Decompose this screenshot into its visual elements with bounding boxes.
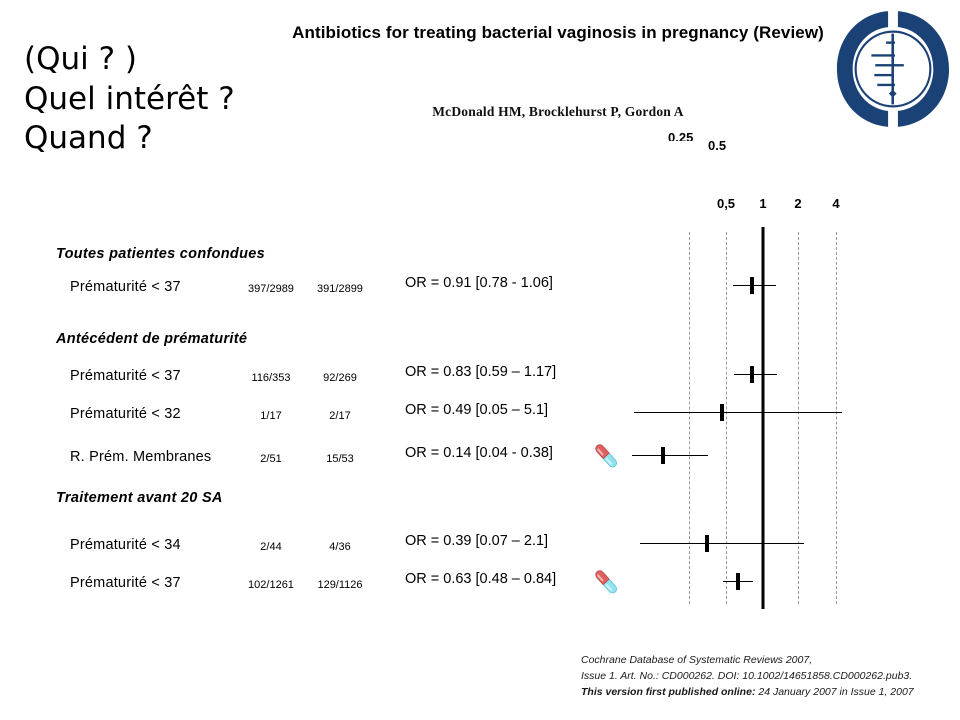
gridline-dashed-3 [798,232,799,604]
confidence-interval-line [640,543,804,544]
confidence-interval-line [733,285,776,286]
study-row-label: Prématurité < 34 [70,537,181,553]
slide-question-block: (Qui ? ) Quel intérêt ? Quand ? [24,40,404,159]
group-heading: Traitement avant 20 SA [56,490,223,506]
gridline-dashed-1 [726,232,727,604]
study-row-n-treatment: 102/1261 [238,579,304,591]
citation-line-3-value: 24 January 2007 in Issue 1, 2007 [755,686,913,698]
citation-line-1: Cochrane Database of Systematic Reviews … [581,653,953,669]
study-row-label: Prématurité < 32 [70,406,181,422]
axis-tick-label-3: 2 [794,196,801,211]
axis-tick-label-1: 0,5 [717,196,735,211]
forest-plot: 0,5124 [600,196,960,616]
study-row-label: R. Prém. Membranes [70,449,211,465]
citation-line-3-label: This version first published online: [581,686,755,698]
study-row-n-treatment: 116/353 [238,372,304,384]
study-row-label: Prématurité < 37 [70,279,181,295]
group-heading: Toutes patientes confondues [56,246,265,262]
effect-estimate-marker [750,366,754,383]
study-row-odds-ratio: OR = 0.49 [0.05 – 5.1] [405,402,548,418]
review-title: Antibiotics for treating bacterial vagin… [268,22,848,44]
study-row-odds-ratio: OR = 0.14 [0.04 - 0.38] [405,445,553,461]
study-row-n-control: 15/53 [305,453,375,465]
group-heading: Antécédent de prématurité [56,331,247,347]
confidence-interval-line [632,455,708,456]
axis-tick-label-4: 4 [832,196,839,211]
study-row-n-treatment: 2/44 [238,541,304,553]
confidence-interval-line [634,412,842,413]
citation-line-3: This version first published online: 24 … [581,685,953,701]
study-row-n-treatment: 2/51 [238,453,304,465]
study-row-label: Prématurité < 37 [70,368,181,384]
effect-estimate-marker [750,277,754,294]
slide-question-line-1: (Qui ? ) [24,40,404,80]
study-row-n-control: 2/17 [305,410,375,422]
gridline-dashed-4 [836,232,837,604]
study-row-n-control: 129/1126 [305,579,375,591]
citation-line-2: Issue 1. Art. No.: CD000262. DOI: 10.100… [581,669,953,685]
study-row-odds-ratio: OR = 0.39 [0.07 – 2.1] [405,533,548,549]
study-row-label: Prématurité < 37 [70,575,181,591]
study-row-n-treatment: 397/2989 [238,283,304,295]
effect-estimate-marker [720,404,724,421]
cropped-scale-label-05: 0.5 [708,138,726,153]
confidence-interval-line [734,374,777,375]
slide-question-line-3: Quand ? [24,119,404,159]
study-row-n-control: 391/2899 [305,283,375,295]
review-authors: McDonald HM, Brocklehurst P, Gordon A [268,104,848,120]
citation-block: Cochrane Database of Systematic Reviews … [581,653,953,700]
study-row-n-control: 92/269 [305,372,375,384]
study-row-n-treatment: 1/17 [238,410,304,422]
study-row-odds-ratio: OR = 0.83 [0.59 – 1.17] [405,364,556,380]
effect-estimate-marker [736,573,740,590]
effect-estimate-marker [661,447,665,464]
study-row-odds-ratio: OR = 0.63 [0.48 – 0.84] [405,571,556,587]
cropped-scale-label-025: 0.25 [668,130,693,141]
cochrane-logo-icon [834,5,952,133]
gridline-dashed-0 [689,232,690,604]
study-row-odds-ratio: OR = 0.91 [0.78 - 1.06] [405,275,553,291]
study-row-n-control: 4/36 [305,541,375,553]
effect-estimate-marker [705,535,709,552]
axis-tick-label-2: 1 [759,196,766,211]
